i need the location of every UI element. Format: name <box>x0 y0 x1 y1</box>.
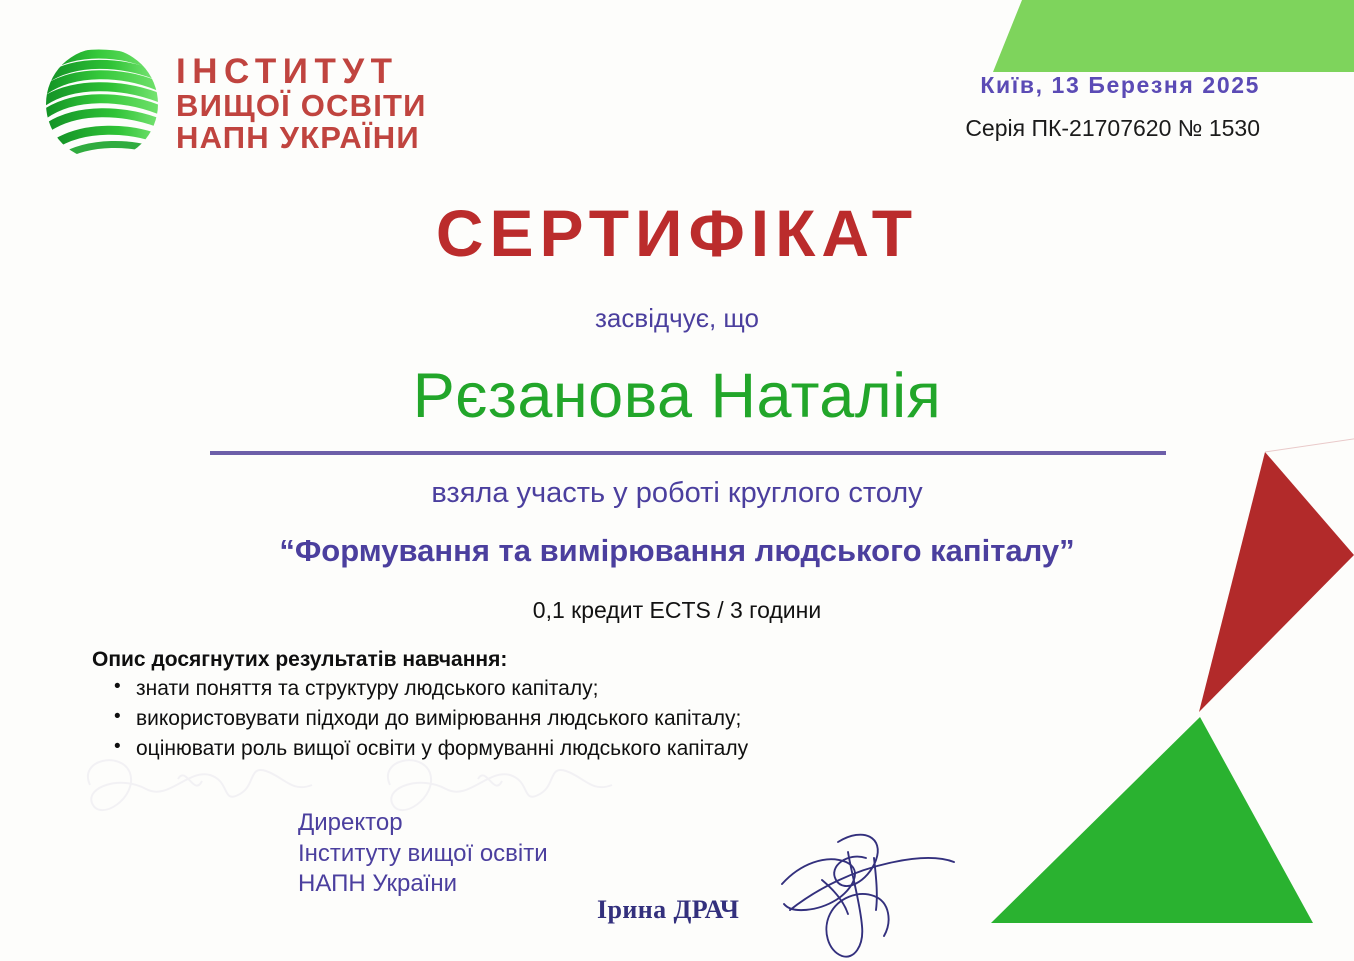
learning-outcomes-list: знати поняття та структуру людського кап… <box>92 674 748 763</box>
header-meta: Київ, 13 Березня 2025 Серія ПК-21707620 … <box>965 72 1260 142</box>
logo-line-napn-ukraine: НАПН УКРАЇНИ <box>176 122 427 154</box>
learning-outcomes-section: Опис досягнутих результатів навчання: зн… <box>92 648 748 763</box>
recipient-name-underline <box>210 451 1166 455</box>
recipient-name: Рєзанова Наталія <box>0 360 1354 432</box>
logo-line-higher-education: ВИЩОЇ ОСВІТИ <box>176 90 427 122</box>
green-globe-spiral-icon <box>38 38 166 170</box>
signer-name: Ірина ДРАЧ <box>597 895 739 925</box>
handwritten-signature-icon <box>778 818 968 961</box>
signer-role: Директор Інституту вищої освіти НАПН Укр… <box>298 808 548 900</box>
series-number: Серія ПК-21707620 № 1530 <box>965 115 1260 142</box>
list-item: оцінювати роль вищої освіти у формуванні… <box>136 734 748 764</box>
logo-line-institute: ІНСТИТУТ <box>176 54 427 90</box>
signer-role-line-1: Директор <box>298 808 548 839</box>
certificate-page: ІНСТИТУТ ВИЩОЇ ОСВІТИ НАПН УКРАЇНИ Київ,… <box>0 0 1354 961</box>
green-triangle-shape <box>960 700 1354 940</box>
participation-statement: взяла участь у роботі круглого столу <box>0 477 1354 510</box>
event-title: “Формування та вимірювання людського кап… <box>0 533 1354 569</box>
institute-logo: ІНСТИТУТ ВИЩОЇ ОСВІТИ НАПН УКРАЇНИ <box>38 38 427 170</box>
top-right-green-banner-shape <box>900 0 1354 72</box>
signer-role-line-3: НАПН України <box>298 869 548 900</box>
ects-credits: 0,1 кредит ECTS / 3 години <box>0 597 1354 624</box>
list-item: використовувати підходи до вимірювання л… <box>136 704 748 734</box>
certifies-that-text: засвідчує, що <box>0 303 1354 334</box>
place-and-date: Київ, 13 Березня 2025 <box>965 72 1260 99</box>
list-item: знати поняття та структуру людського кап… <box>136 674 748 704</box>
red-triangle-shape <box>1160 420 1354 730</box>
certificate-title: СЕРТИФІКАТ <box>0 195 1354 271</box>
learning-outcomes-heading: Опис досягнутих результатів навчання: <box>92 648 748 672</box>
signer-role-line-2: Інституту вищої освіти <box>298 839 548 870</box>
